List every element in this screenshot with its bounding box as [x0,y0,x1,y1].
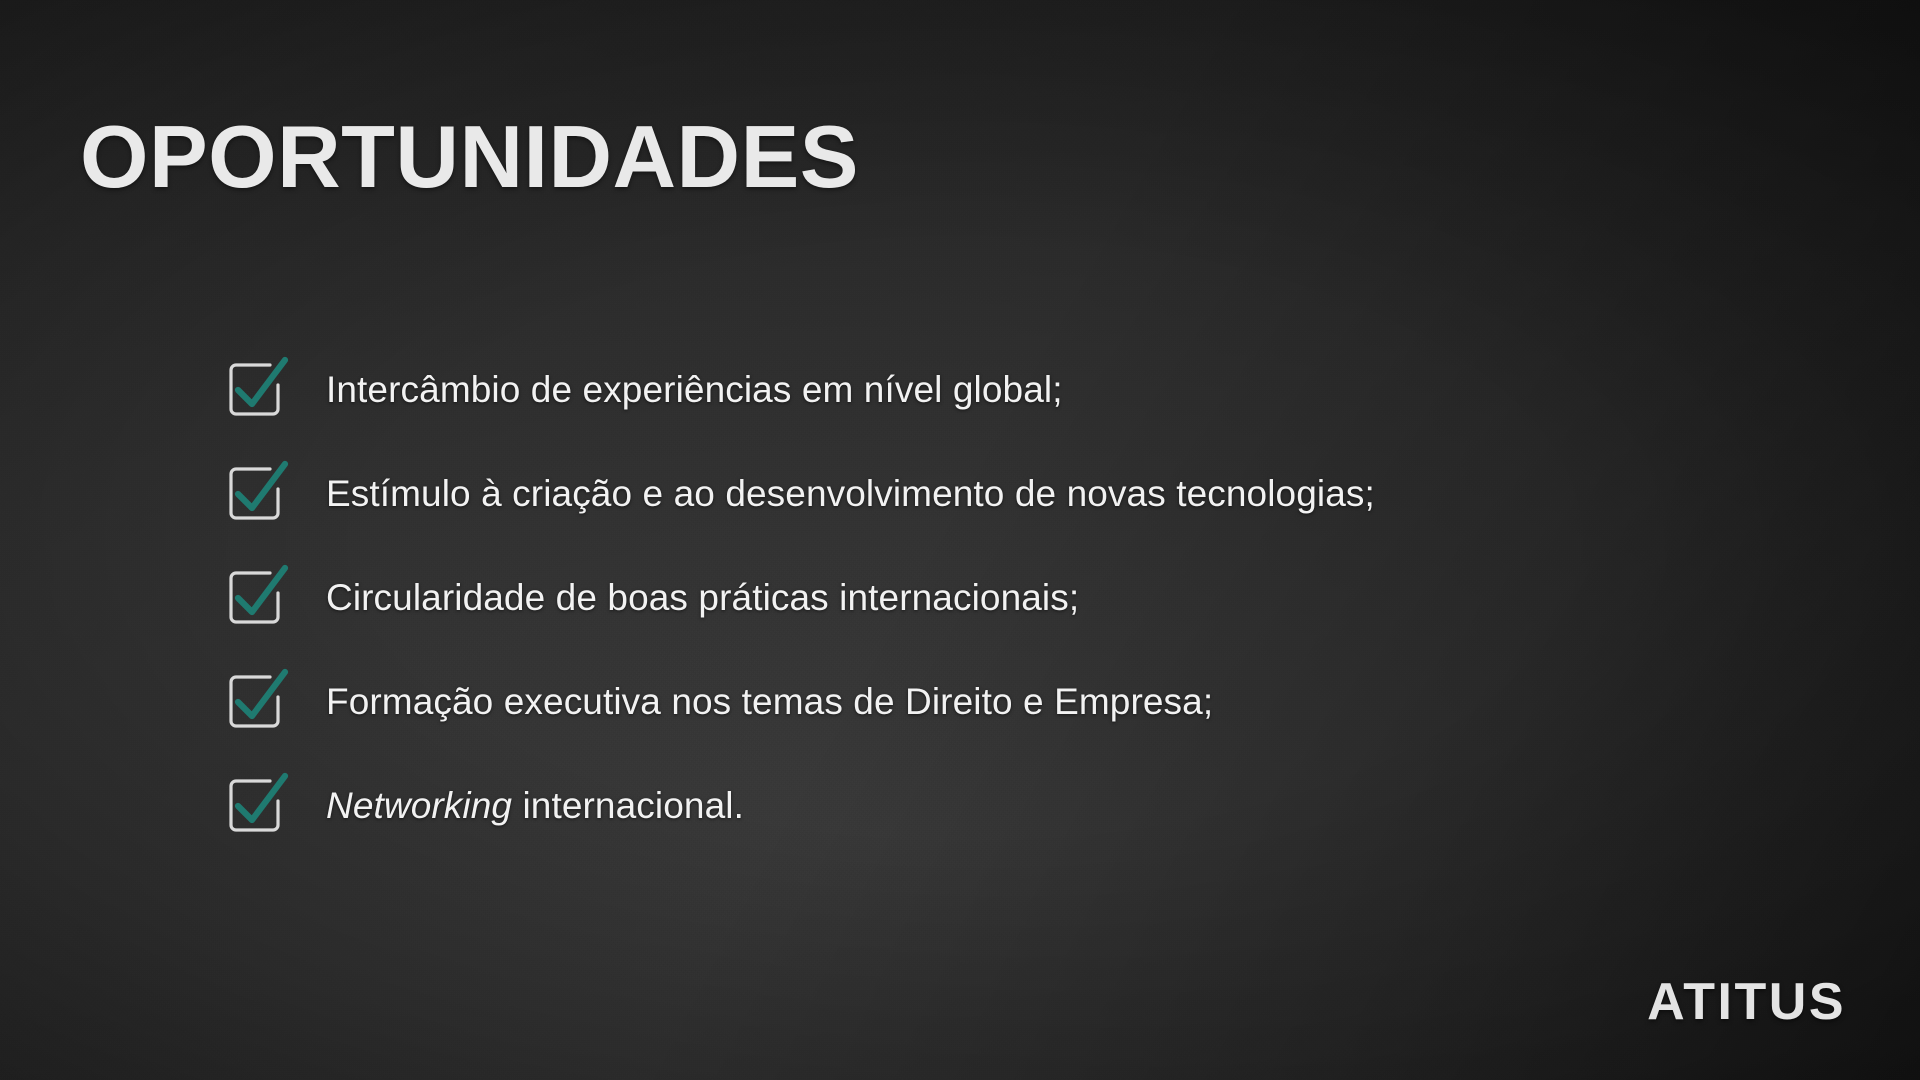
checkbox-checked-icon [226,775,288,837]
list-item-label: Networking internacional. [326,784,744,828]
list-item: Circularidade de boas práticas internaci… [226,546,1786,650]
opportunities-list: Intercâmbio de experiências em nível glo… [226,338,1786,858]
list-item-label: Estímulo à criação e ao desenvolvimento … [326,472,1375,516]
page-title: OPORTUNIDADES [80,111,859,203]
checkbox-checked-icon [226,359,288,421]
brand-logo: ATITUS [1647,976,1846,1028]
presentation-slide: OPORTUNIDADES Intercâmbio de experiência… [0,0,1920,1080]
list-item-label: Formação executiva nos temas de Direito … [326,680,1213,724]
list-item: Formação executiva nos temas de Direito … [226,650,1786,754]
checkbox-checked-icon [226,567,288,629]
list-item-label: Circularidade de boas práticas internaci… [326,576,1079,620]
list-item-label-rest: internacional. [512,785,744,826]
list-item-label: Intercâmbio de experiências em nível glo… [326,368,1063,412]
checkbox-checked-icon [226,671,288,733]
list-item: Networking internacional. [226,754,1786,858]
list-item: Intercâmbio de experiências em nível glo… [226,338,1786,442]
list-item-label-emphasis: Networking [326,785,512,826]
checkbox-checked-icon [226,463,288,525]
list-item: Estímulo à criação e ao desenvolvimento … [226,442,1786,546]
